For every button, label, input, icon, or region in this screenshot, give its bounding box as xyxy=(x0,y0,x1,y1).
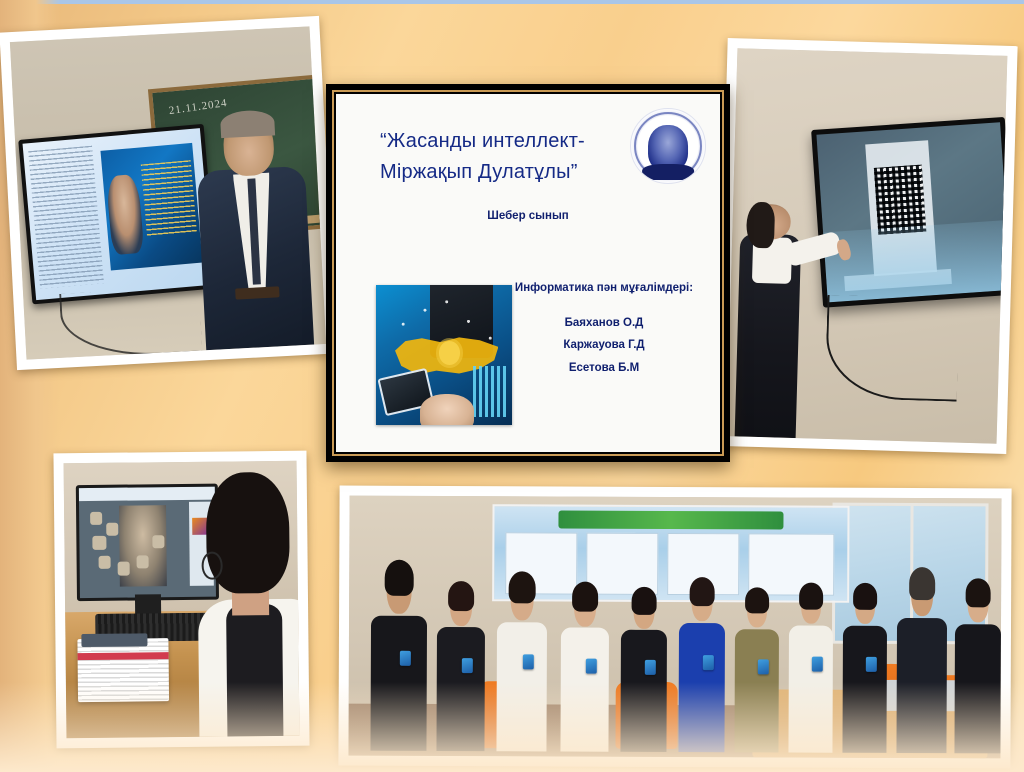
photo-woman-at-computer xyxy=(53,451,309,749)
seated-woman xyxy=(199,472,300,737)
group-person-hair xyxy=(572,581,598,611)
group-person-body xyxy=(678,623,725,752)
blue-card xyxy=(758,659,769,674)
group-person xyxy=(620,585,667,752)
puzzle-piece xyxy=(117,562,129,575)
group-person-hair xyxy=(385,560,414,596)
slide-subtitle: Шебер сынып xyxy=(358,210,698,222)
monitor-screen xyxy=(78,487,215,598)
paper-stack xyxy=(77,638,169,702)
teacher-name: Есетова Б.М xyxy=(504,357,704,379)
photo-teacher-presenting: 21.11.2024 xyxy=(0,16,337,370)
group-person xyxy=(560,580,609,752)
group-person-body xyxy=(496,622,547,751)
blue-card xyxy=(812,656,823,671)
slide-president-image xyxy=(100,143,203,270)
presenter-hair xyxy=(746,202,775,249)
group-person-hair xyxy=(745,587,769,613)
mirzhaqyp-dulatuly-emblem-icon xyxy=(630,108,706,184)
poster-canvas: 21.11.2024 xyxy=(0,0,1024,772)
group-person-body xyxy=(788,625,833,752)
blue-card xyxy=(645,660,656,675)
puzzle-piece xyxy=(106,523,118,536)
open-hand xyxy=(420,394,474,425)
group-person-hair xyxy=(448,581,474,611)
emblem-collar xyxy=(642,164,694,180)
puzzle-piece xyxy=(98,556,110,569)
group-person-body xyxy=(370,616,427,751)
group-person-body xyxy=(560,628,609,752)
blue-card xyxy=(703,655,714,670)
puzzle-piece xyxy=(93,536,107,550)
seated-woman-vest xyxy=(226,604,283,737)
group-person xyxy=(370,558,427,751)
group-person xyxy=(954,576,1001,753)
group-person xyxy=(734,586,779,753)
photo-teacher-content: 21.11.2024 xyxy=(10,26,326,359)
president-portrait xyxy=(106,175,144,256)
slide-title-line-2: Міржақып Дулатұлы” xyxy=(380,157,630,188)
group-person xyxy=(896,566,947,753)
interactive-panel xyxy=(811,117,1008,308)
photo-group-participants xyxy=(338,486,1011,769)
wall-display xyxy=(18,124,218,305)
teacher-name: Баяханов О.Д xyxy=(504,312,704,334)
group-person xyxy=(496,569,547,751)
slide-canvas: “Жасанды интеллект- Міржақып Дулатұлы” Ш… xyxy=(336,94,720,452)
qr-code-icon xyxy=(874,165,926,235)
blue-card xyxy=(462,658,473,673)
group-person-body xyxy=(954,624,1001,753)
paper-red-marker xyxy=(77,652,168,660)
chalkboard-date: 21.11.2024 xyxy=(168,97,228,117)
slide-headline-text xyxy=(141,160,197,236)
info-board-header xyxy=(558,510,783,530)
photo-smartboard-content xyxy=(727,48,1008,443)
slide-title: “Жасанды интеллект- Міржақып Дулатұлы” xyxy=(380,126,630,188)
photo-woman-at-smartboard xyxy=(716,38,1017,454)
blue-card xyxy=(586,659,597,674)
presenter-woman xyxy=(732,204,809,439)
group-person-body xyxy=(842,626,887,753)
photo-group-content xyxy=(348,496,1001,759)
monitor xyxy=(75,484,218,601)
group-person xyxy=(678,575,725,752)
browser-toolbar xyxy=(78,487,214,502)
group-person-body xyxy=(620,630,667,752)
group-person-hair xyxy=(632,587,657,615)
group-person xyxy=(788,581,833,753)
screen-glare xyxy=(823,220,1008,303)
teacher-name: Каржауова Г.Д xyxy=(504,334,704,356)
group-person-hair xyxy=(909,568,935,600)
slide-gold-border: “Жасанды интеллект- Міржақып Дулатұлы” Ш… xyxy=(332,90,724,456)
photo-computer-content xyxy=(64,461,300,738)
bar-chart-icon xyxy=(473,366,508,416)
group-person xyxy=(842,581,887,753)
blue-card xyxy=(400,651,411,666)
slide-text-column xyxy=(29,146,105,290)
teachers-label: Информатика пән мұғалімдері: xyxy=(504,282,704,294)
group-person xyxy=(436,579,485,751)
group-person-hair xyxy=(853,583,877,610)
group-person-hair xyxy=(509,571,536,604)
kazakhstan-digital-illustration xyxy=(376,285,512,425)
group-person-hair xyxy=(966,578,991,607)
wall-display-screen xyxy=(23,129,214,301)
group-person-hair xyxy=(799,582,823,609)
group-person-body xyxy=(734,629,779,752)
group-person-body xyxy=(436,627,485,751)
group-person-body xyxy=(896,618,947,753)
group-person-hair xyxy=(690,577,715,606)
slide-teachers-block: Информатика пән мұғалімдері: Баяханов О.… xyxy=(504,282,704,379)
puzzle-piece xyxy=(90,512,102,525)
puzzle-piece xyxy=(152,535,164,548)
blue-card xyxy=(866,657,877,672)
blue-card xyxy=(523,655,534,670)
presentation-slide: “Жасанды интеллект- Міржақып Дулатұлы” Ш… xyxy=(326,84,730,462)
puzzle-piece xyxy=(136,555,148,568)
slide-title-line-1: “Жасанды интеллект- xyxy=(380,126,630,157)
presenting-teacher xyxy=(194,113,314,350)
folder xyxy=(82,633,147,647)
interactive-panel-screen xyxy=(816,122,1007,303)
